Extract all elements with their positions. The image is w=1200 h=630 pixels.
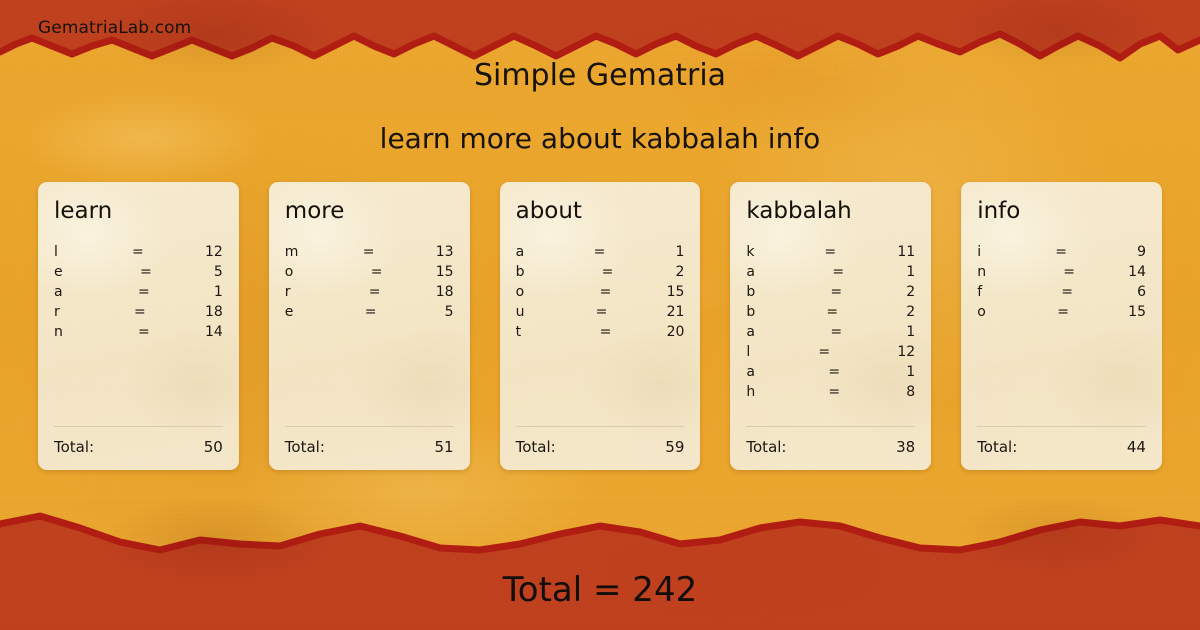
letter-value: 11 (897, 242, 915, 262)
letter-glyph: n (54, 322, 63, 342)
equals-sign: = (830, 322, 842, 342)
letter-value-row: r=18 (285, 282, 454, 302)
letter-value-row: n=14 (54, 322, 223, 342)
letter-value-row: m=13 (285, 242, 454, 262)
letter-value-row: n=14 (977, 262, 1146, 282)
card-total-row: Total:44 (977, 438, 1146, 456)
letter-value: 6 (1137, 282, 1146, 302)
letter-glyph: o (285, 262, 294, 282)
total-divider (516, 426, 685, 427)
letter-value-list: k=11a=1b=2b=2a=1l=12a=1h=8 (746, 242, 915, 402)
gematria-card-image: GematriaLab.com Simple Gematria learn mo… (0, 0, 1200, 630)
equals-sign: = (140, 262, 152, 282)
equals-sign: = (1061, 282, 1073, 302)
page-title: Simple Gematria (0, 58, 1200, 93)
letter-value-row: o=15 (285, 262, 454, 282)
equals-sign: = (828, 382, 840, 402)
total-divider (54, 426, 223, 427)
card-total-value: 44 (1127, 438, 1146, 456)
equals-sign: = (828, 362, 840, 382)
letter-value: 21 (667, 302, 685, 322)
total-divider (746, 426, 915, 427)
equals-sign: = (832, 262, 844, 282)
card-total-row: Total:50 (54, 438, 223, 456)
card-word-title: info (977, 200, 1146, 223)
card-total-label: Total: (54, 438, 94, 456)
letter-glyph: o (516, 282, 525, 302)
letter-glyph: r (54, 302, 60, 322)
letter-value-list: l=12e=5a=1r=18n=14 (54, 242, 223, 342)
equals-sign: = (1055, 242, 1067, 262)
letter-value: 2 (906, 302, 915, 322)
word-card: kabbalahk=11a=1b=2b=2a=1l=12a=1h=8Total:… (730, 182, 931, 470)
word-card: infoi=9n=14f=6o=15Total:44 (961, 182, 1162, 470)
letter-glyph: k (746, 242, 754, 262)
equals-sign: = (600, 322, 612, 342)
letter-value: 13 (436, 242, 454, 262)
card-total-row: Total:59 (516, 438, 685, 456)
letter-glyph: a (54, 282, 63, 302)
letter-glyph: h (746, 382, 755, 402)
letter-value: 15 (436, 262, 454, 282)
letter-glyph: l (54, 242, 58, 262)
letter-value-row: h=8 (746, 382, 915, 402)
card-total-value: 59 (665, 438, 684, 456)
letter-value-row: f=6 (977, 282, 1146, 302)
letter-value-row: a=1 (746, 362, 915, 382)
letter-value-row: k=11 (746, 242, 915, 262)
letter-glyph: a (746, 262, 755, 282)
letter-value: 1 (675, 242, 684, 262)
letter-glyph: t (516, 322, 522, 342)
letter-glyph: b (746, 302, 755, 322)
equals-sign: = (594, 242, 606, 262)
card-word-title: learn (54, 200, 223, 223)
card-total-section: Total:59 (516, 426, 685, 456)
page-subtitle: learn more about kabbalah info (0, 122, 1200, 155)
equals-sign: = (138, 282, 150, 302)
letter-value: 1 (906, 322, 915, 342)
letter-glyph: l (746, 342, 750, 362)
letter-value-row: l=12 (746, 342, 915, 362)
card-total-label: Total: (746, 438, 786, 456)
letter-value-row: b=2 (516, 262, 685, 282)
card-total-row: Total:38 (746, 438, 915, 456)
equals-sign: = (818, 342, 830, 362)
letter-value-row: i=9 (977, 242, 1146, 262)
letter-value-row: a=1 (746, 262, 915, 282)
grand-total: Total = 242 (0, 570, 1200, 610)
equals-sign: = (830, 282, 842, 302)
letter-value-row: t=20 (516, 322, 685, 342)
letter-value: 9 (1137, 242, 1146, 262)
letter-value: 5 (445, 302, 454, 322)
letter-glyph: u (516, 302, 525, 322)
equals-sign: = (363, 242, 375, 262)
letter-glyph: b (516, 262, 525, 282)
letter-value-row: e=5 (54, 262, 223, 282)
letter-glyph: n (977, 262, 986, 282)
equals-sign: = (826, 302, 838, 322)
letter-value: 1 (214, 282, 223, 302)
letter-value-row: a=1 (516, 242, 685, 262)
letter-value: 15 (667, 282, 685, 302)
letter-glyph: f (977, 282, 982, 302)
card-total-value: 51 (435, 438, 454, 456)
letter-glyph: e (285, 302, 294, 322)
card-total-section: Total:44 (977, 426, 1146, 456)
letter-glyph: o (977, 302, 986, 322)
letter-glyph: a (746, 362, 755, 382)
equals-sign: = (138, 322, 150, 342)
letter-value-row: b=2 (746, 282, 915, 302)
letter-value-row: o=15 (516, 282, 685, 302)
letter-value: 1 (906, 262, 915, 282)
card-total-row: Total:51 (285, 438, 454, 456)
letter-value-row: l=12 (54, 242, 223, 262)
card-word-title: kabbalah (746, 200, 915, 223)
letter-value-row: b=2 (746, 302, 915, 322)
card-total-label: Total: (516, 438, 556, 456)
card-total-section: Total:50 (54, 426, 223, 456)
letter-value-row: e=5 (285, 302, 454, 322)
card-total-label: Total: (977, 438, 1017, 456)
card-word-title: more (285, 200, 454, 223)
letter-value-list: i=9n=14f=6o=15 (977, 242, 1146, 322)
equals-sign: = (369, 282, 381, 302)
letter-value: 12 (205, 242, 223, 262)
card-word-title: about (516, 200, 685, 223)
equals-sign: = (1063, 262, 1075, 282)
equals-sign: = (132, 242, 144, 262)
word-card: morem=13o=15r=18e=5Total:51 (269, 182, 470, 470)
equals-sign: = (596, 302, 608, 322)
equals-sign: = (600, 282, 612, 302)
letter-value-list: a=1b=2o=15u=21t=20 (516, 242, 685, 342)
letter-value-row: a=1 (746, 322, 915, 342)
letter-glyph: r (285, 282, 291, 302)
equals-sign: = (824, 242, 836, 262)
equals-sign: = (1057, 302, 1069, 322)
card-total-section: Total:51 (285, 426, 454, 456)
letter-glyph: b (746, 282, 755, 302)
letter-value: 2 (906, 282, 915, 302)
letter-value: 2 (675, 262, 684, 282)
letter-glyph: m (285, 242, 299, 262)
letter-value: 8 (906, 382, 915, 402)
word-cards-container: learnl=12e=5a=1r=18n=14Total:50morem=13o… (38, 182, 1162, 470)
letter-value: 20 (667, 322, 685, 342)
letter-glyph: a (516, 242, 525, 262)
letter-value-row: o=15 (977, 302, 1146, 322)
card-total-label: Total: (285, 438, 325, 456)
total-divider (285, 426, 454, 427)
total-divider (977, 426, 1146, 427)
letter-value: 18 (436, 282, 454, 302)
letter-value-row: a=1 (54, 282, 223, 302)
card-total-value: 50 (204, 438, 223, 456)
letter-value: 15 (1128, 302, 1146, 322)
letter-glyph: a (746, 322, 755, 342)
equals-sign: = (602, 262, 614, 282)
word-card: abouta=1b=2o=15u=21t=20Total:59 (500, 182, 701, 470)
letter-value: 14 (205, 322, 223, 342)
letter-glyph: e (54, 262, 63, 282)
letter-value: 12 (897, 342, 915, 362)
letter-value: 5 (214, 262, 223, 282)
letter-value-list: m=13o=15r=18e=5 (285, 242, 454, 322)
letter-value-row: r=18 (54, 302, 223, 322)
letter-value: 18 (205, 302, 223, 322)
equals-sign: = (365, 302, 377, 322)
site-logo-text[interactable]: GematriaLab.com (38, 18, 191, 38)
letter-value: 1 (906, 362, 915, 382)
card-total-value: 38 (896, 438, 915, 456)
card-total-section: Total:38 (746, 426, 915, 456)
letter-glyph: i (977, 242, 981, 262)
letter-value-row: u=21 (516, 302, 685, 322)
equals-sign: = (134, 302, 146, 322)
word-card: learnl=12e=5a=1r=18n=14Total:50 (38, 182, 239, 470)
equals-sign: = (371, 262, 383, 282)
letter-value: 14 (1128, 262, 1146, 282)
